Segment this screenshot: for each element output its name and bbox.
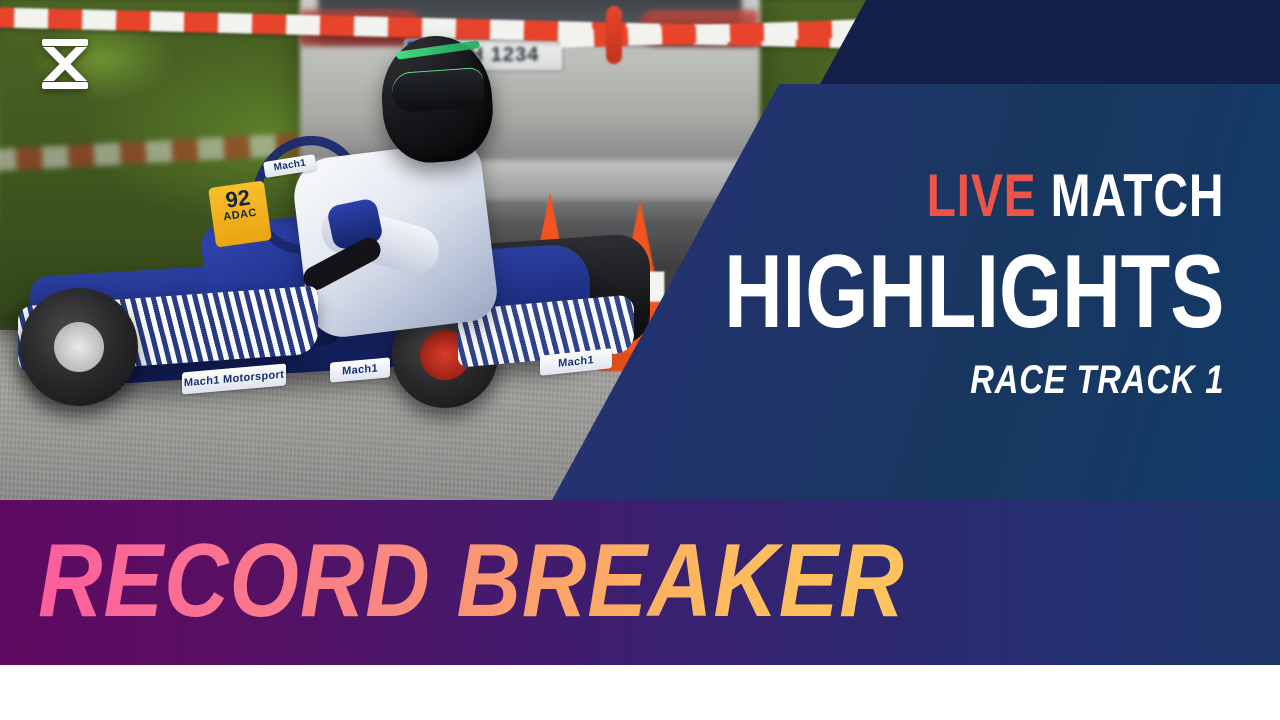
kart-decal-sidepod-center: Mach1 — [330, 357, 390, 382]
bottom-banner: RECORD BREAKER — [0, 500, 1280, 665]
capcut-logo — [36, 38, 94, 90]
eyebrow-match-word: MATCH — [1050, 162, 1224, 229]
eyebrow-live-word: LIVE — [926, 162, 1036, 229]
banner-title: RECORD BREAKER — [38, 529, 905, 633]
headline-block: LIVE MATCH HIGHLIGHTS RACE TRACK 1 — [583, 166, 1224, 400]
headline-title: HIGHLIGHTS — [724, 240, 1224, 344]
kart-number-plate: 92 ADAC — [208, 180, 272, 247]
headline-subtitle: RACE TRACK 1 — [698, 360, 1224, 400]
thumbnail-canvas: M-UH 1234 — [0, 0, 1280, 720]
eyebrow-line: LIVE MATCH — [711, 166, 1224, 226]
kart-club-label: ADAC — [212, 206, 269, 225]
photo-go-kart: 92 ADAC Mach1 Mach1 Motorsport Mach1 Mac… — [0, 120, 660, 450]
photo-barrier-pole — [606, 6, 622, 64]
kart-front-tire — [20, 288, 138, 406]
helmet-visor — [391, 67, 486, 113]
